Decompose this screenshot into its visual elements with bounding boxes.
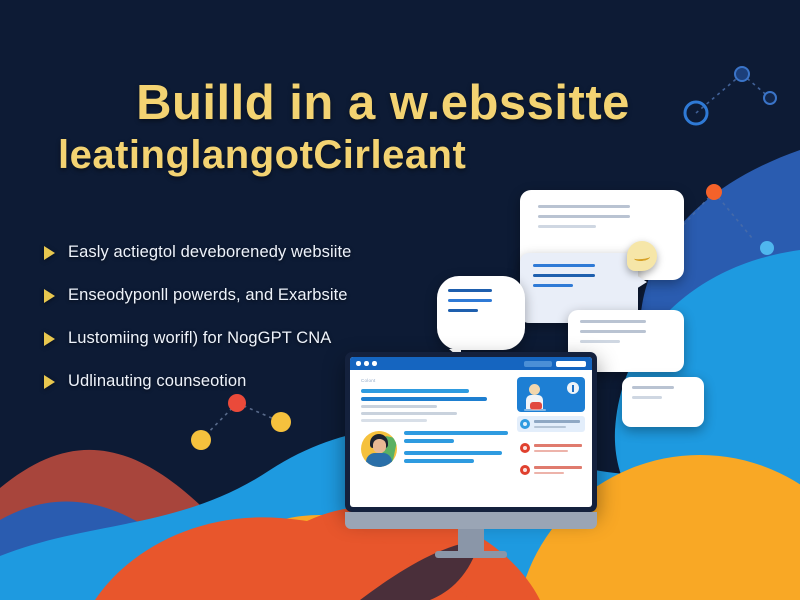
bullet-label: Udlinauting counseotion: [68, 372, 246, 391]
info-badge-icon: [567, 382, 579, 394]
list-item: Udlinauting counseotion: [44, 372, 424, 391]
row-lines: [534, 420, 582, 427]
red-circle-icon: [520, 443, 530, 453]
feature-bullet-list: Easly actiegtol deveborenedy websiite En…: [44, 243, 424, 415]
play-triangle-icon: [44, 289, 55, 303]
node-dot-yellow-b: [271, 412, 291, 432]
nav-pill-button[interactable]: [524, 361, 552, 367]
chat-badge-icon: [627, 241, 657, 271]
list-item[interactable]: [517, 462, 585, 478]
headline-line-1: Builld in a w.ebssitte: [58, 78, 678, 129]
user-avatar: [361, 431, 397, 467]
headline-block: Builld in a w.ebssitte leatinglangotCirl…: [58, 78, 678, 177]
list-item: Lustomiing worifl) for NogGPT CNA: [44, 329, 424, 348]
avatar-face: [373, 439, 386, 453]
monitor-stand-neck: [458, 529, 484, 551]
avatar-body: [366, 453, 392, 467]
video-preview-card[interactable]: [517, 377, 585, 412]
play-triangle-icon: [44, 246, 55, 260]
squiggle-glyph: [634, 253, 651, 262]
content-bar: [404, 451, 502, 455]
content-bar: [404, 431, 508, 435]
bullet-label: Enseodyponll powerds, and Exarbsite: [68, 286, 348, 305]
poster-canvas: Builld in a w.ebssitte leatinglangotCirl…: [0, 0, 800, 600]
node-dot-cyan: [760, 241, 774, 255]
play-triangle-icon: [44, 332, 55, 346]
bullet-label: Easly actiegtol deveborenedy websiite: [68, 243, 351, 262]
profile-row: [361, 431, 508, 467]
node-dot-yellow-a: [191, 430, 211, 450]
card-caption-bar: [524, 409, 546, 411]
row-lines: [534, 444, 582, 451]
row-lines: [534, 466, 582, 473]
node-ring-small: [764, 92, 776, 104]
list-item: Enseodyponll powerds, and Exarbsite: [44, 286, 424, 305]
node-dot-orange: [706, 184, 722, 200]
content-bar: [404, 459, 474, 463]
card-person-head: [529, 384, 540, 395]
chat-bubble-small-right: [622, 377, 704, 427]
chat-bubble-small-left: [437, 276, 525, 350]
content-bar: [404, 439, 454, 443]
play-triangle-icon: [44, 375, 55, 389]
list-item[interactable]: [517, 416, 585, 432]
titlebar-actions: [524, 361, 586, 367]
headline-line-2: leatinglangotCirleant: [58, 135, 678, 177]
list-item[interactable]: [517, 440, 585, 456]
node-dot-blue: [735, 67, 749, 81]
bullet-label: Lustomiing worifl) for NogGPT CNA: [68, 329, 331, 348]
list-item: Easly actiegtol deveborenedy websiite: [44, 243, 424, 262]
content-side-column: [515, 370, 592, 507]
blue-circle-icon: [520, 419, 530, 429]
action-pill-button[interactable]: [556, 361, 586, 367]
content-bar: [361, 419, 427, 422]
card-person-illustration: [526, 384, 543, 409]
monitor-bezel-bottom: [345, 512, 597, 529]
red-circle-icon: [520, 465, 530, 475]
monitor-stand-base: [435, 551, 507, 558]
